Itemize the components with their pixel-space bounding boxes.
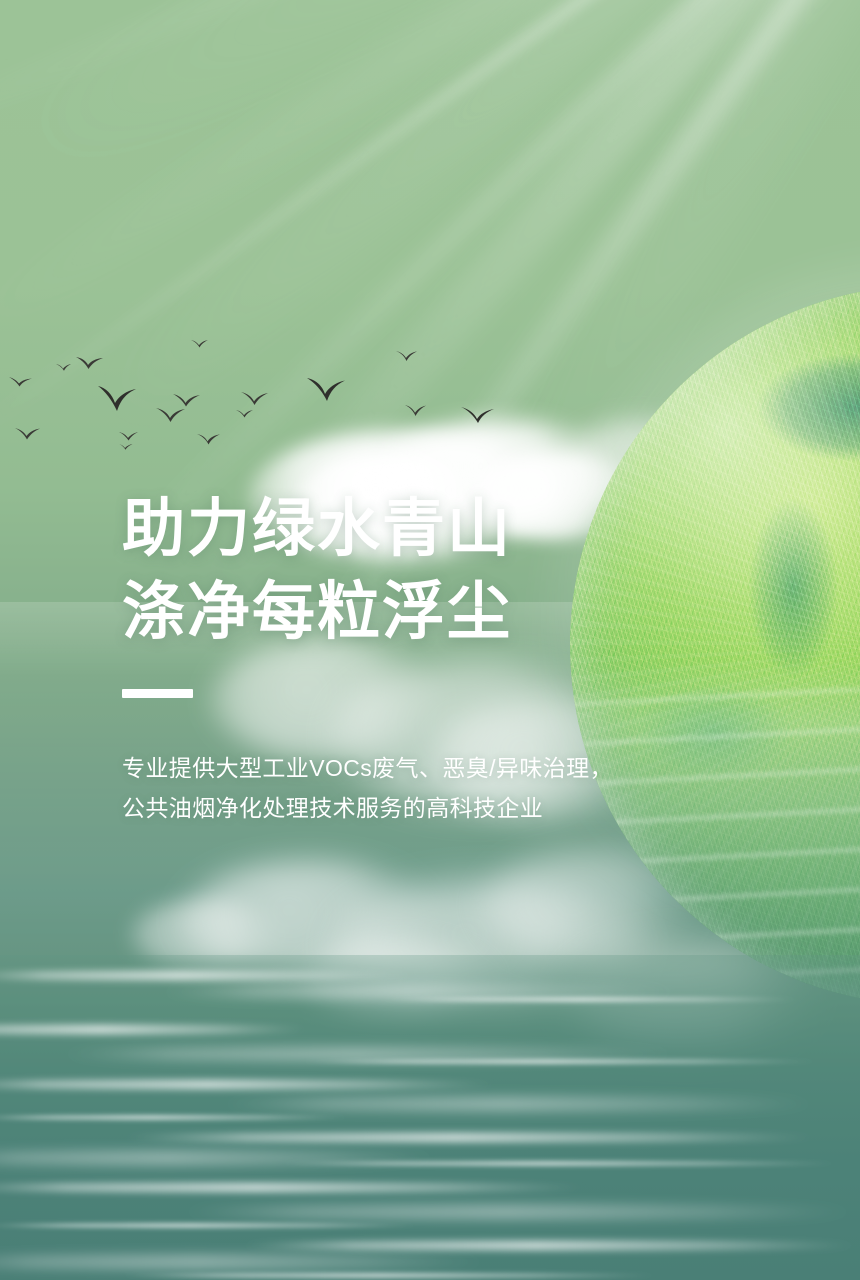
- water-wave: [0, 1255, 490, 1269]
- water-wave: [380, 997, 800, 1002]
- headline-line-1: 助力绿水青山: [122, 488, 722, 571]
- water-wave: [120, 1273, 660, 1278]
- water-wave: [180, 1205, 860, 1219]
- headline-line-2: 涤净每粒浮尘: [122, 571, 722, 654]
- water-wave: [120, 1133, 820, 1142]
- water-wave: [0, 1183, 590, 1192]
- water-wave: [0, 1025, 310, 1034]
- water-wave: [0, 971, 420, 980]
- subtitle-line-1: 专业提供大型工业VOCs废气、恶臭/异味治理，: [122, 748, 722, 788]
- water-wave: [0, 1080, 500, 1089]
- water-wave: [0, 1115, 350, 1120]
- hero-poster: 助力绿水青山 涤净每粒浮尘 专业提供大型工业VOCs废气、恶臭/异味治理， 公共…: [0, 0, 860, 1280]
- water-surface: [0, 955, 860, 1280]
- subtitle-line-2: 公共油烟净化处理技术服务的高科技企业: [122, 788, 722, 828]
- water-wave: [280, 1161, 840, 1166]
- water-wave: [0, 1223, 420, 1228]
- hero-text-block: 助力绿水青山 涤净每粒浮尘 专业提供大型工业VOCs废气、恶臭/异味治理， 公共…: [122, 488, 722, 828]
- divider-rule: [122, 689, 193, 698]
- water-wave: [300, 1059, 820, 1064]
- water-wave: [240, 1241, 860, 1250]
- water-wave: [220, 1097, 820, 1111]
